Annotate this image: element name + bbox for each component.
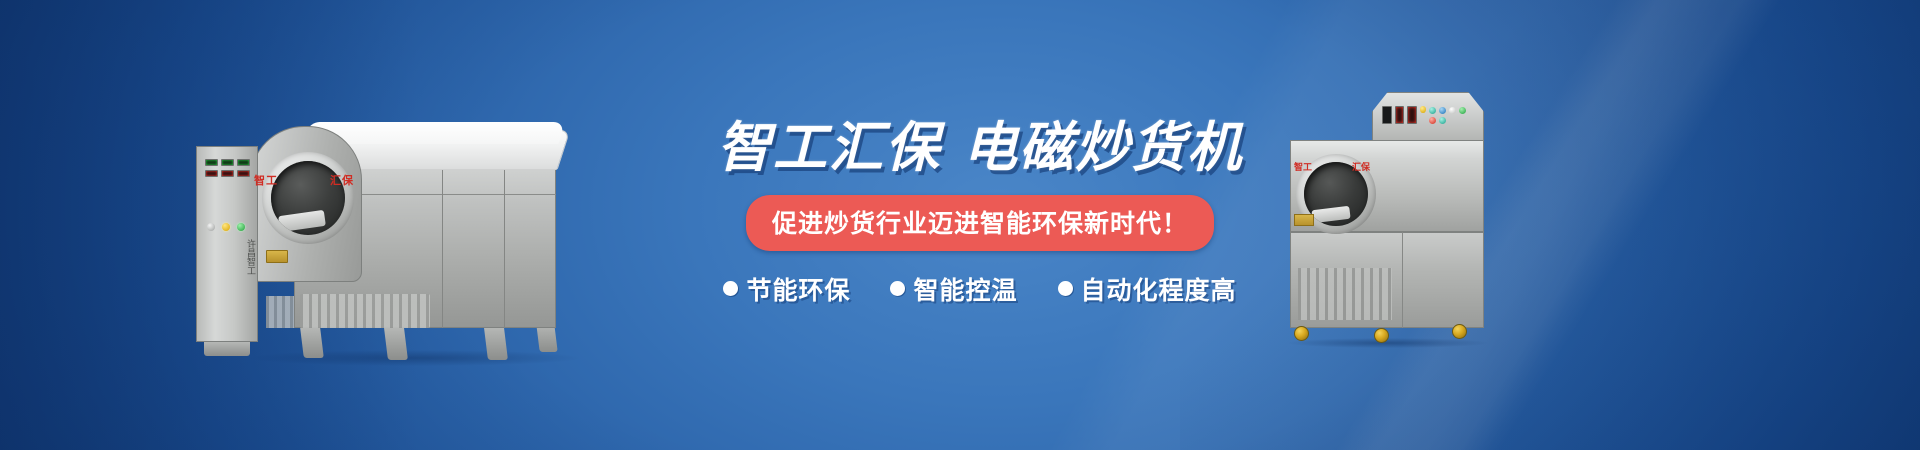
digital-display	[221, 170, 234, 177]
product-image-roaster-compact: 智工 汇保	[1280, 92, 1540, 362]
digital-display	[1407, 106, 1417, 124]
product-image-roaster-large: 智工 汇保 许昌智工	[190, 98, 610, 368]
brand-mark-right: 汇保	[330, 172, 354, 188]
brand-mark-left: 智工	[1294, 160, 1312, 173]
bullet-dot-icon	[890, 281, 905, 296]
vent-grille	[300, 294, 430, 328]
indicator-light	[1439, 117, 1446, 124]
brand-mark-right: 汇保	[1352, 160, 1370, 173]
floor-shadow	[1288, 338, 1488, 348]
cabinet-base	[204, 342, 250, 356]
digital-display	[1382, 106, 1392, 124]
warning-plate	[266, 250, 288, 263]
door-seam	[442, 170, 443, 328]
caster-wheel	[1374, 328, 1389, 343]
headline-brand: 智工汇保	[717, 116, 941, 179]
brand-mark-left: 智工	[254, 172, 278, 188]
banner-headline: 智工汇保电磁炒货机	[700, 120, 1260, 177]
machine-leg	[384, 328, 408, 360]
machine-leg	[536, 324, 557, 352]
machine-leg	[484, 328, 508, 360]
caster-wheel	[1294, 326, 1309, 341]
bullet-dot-icon	[1058, 281, 1073, 296]
display-row	[205, 170, 251, 177]
banner-copy-block: 智工汇保电磁炒货机 促进炒货行业迈进智能环保新时代！ 节能环保 智能控温 自动化…	[700, 120, 1260, 307]
emergency-stop-button	[1420, 106, 1427, 113]
digital-display	[237, 159, 250, 166]
feature-item-energy-saving: 节能环保	[723, 271, 850, 307]
start-button	[1459, 107, 1466, 114]
control-cabinet: 许昌智工	[196, 146, 258, 342]
indicator-light	[1429, 107, 1436, 114]
indicator-light	[1439, 107, 1446, 114]
display-row	[205, 159, 251, 166]
door-seam	[1402, 232, 1403, 328]
start-indicator-light	[237, 223, 245, 231]
feature-label: 智能控温	[913, 271, 1017, 307]
control-panel	[205, 159, 251, 215]
digital-display	[205, 159, 218, 166]
feature-label: 节能环保	[746, 271, 850, 307]
indicator-light	[1449, 107, 1456, 114]
machine-leg	[300, 328, 324, 358]
digital-display	[221, 159, 234, 166]
stop-button	[1429, 117, 1436, 124]
subtitle-wrapper: 促进炒货行业迈进智能环保新时代！	[700, 195, 1260, 251]
feature-list: 节能环保 智能控温 自动化程度高	[700, 271, 1260, 307]
headline-product: 电磁炒货机	[963, 116, 1243, 179]
vent-grille	[1298, 268, 1392, 320]
selector-knob	[207, 223, 215, 231]
promo-banner: 智工 汇保 许昌智工	[0, 0, 1920, 450]
bullet-dot-icon	[723, 281, 738, 296]
control-knob-row	[207, 223, 245, 231]
warning-plate	[1294, 214, 1314, 226]
control-panel	[1382, 106, 1474, 134]
feature-item-automation: 自动化程度高	[1058, 271, 1237, 307]
vent-grille	[266, 296, 294, 328]
digital-display	[205, 170, 218, 177]
emergency-stop-button	[222, 223, 230, 231]
feature-item-smart-temperature: 智能控温	[890, 271, 1017, 307]
caster-wheel	[1452, 324, 1467, 339]
subtitle-pill: 促进炒货行业迈进智能环保新时代！	[746, 195, 1214, 251]
digital-display	[1395, 106, 1405, 124]
floor-shadow	[250, 350, 580, 366]
button-cluster	[1429, 106, 1474, 124]
feature-label: 自动化程度高	[1081, 271, 1237, 307]
door-seam	[504, 170, 505, 328]
digital-display	[237, 170, 250, 177]
cabinet-brand-text: 许昌智工	[241, 239, 255, 275]
